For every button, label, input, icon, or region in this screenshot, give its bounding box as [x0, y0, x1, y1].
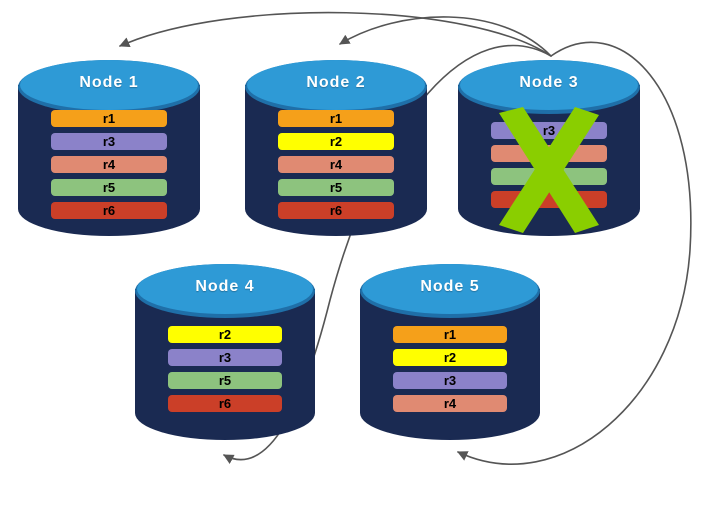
cylinder-top: [20, 60, 198, 110]
node-4-shard-r2[interactable]: r2: [168, 326, 282, 343]
node-5-shard-r1[interactable]: r1: [393, 326, 507, 343]
node-3-shard-3[interactable]: [491, 168, 607, 185]
node-5[interactable]: Node 5r1r2r3r4: [360, 262, 540, 440]
node-4-shard-r5[interactable]: r5: [168, 372, 282, 389]
node-1[interactable]: Node 1r1r3r4r5r6: [18, 58, 200, 236]
node-3[interactable]: Node 3r3: [458, 58, 640, 236]
node-1-shard-r4[interactable]: r4: [51, 156, 167, 173]
node-4-shard-r3[interactable]: r3: [168, 349, 282, 366]
node-4-shard-r6[interactable]: r6: [168, 395, 282, 412]
cylinder-top: [460, 60, 638, 110]
node-5-shard-r2[interactable]: r2: [393, 349, 507, 366]
node-5-shard-list: r1r2r3r4: [360, 326, 540, 412]
node-2-shard-list: r1r2r4r5r6: [245, 110, 427, 219]
node-4[interactable]: Node 4r2r3r5r6: [135, 262, 315, 440]
node-5-shard-r4[interactable]: r4: [393, 395, 507, 412]
diagram-canvas: Node 1r1r3r4r5r6Node 2r1r2r4r5r6Node 3r3…: [0, 0, 708, 508]
node-1-shard-r6[interactable]: r6: [51, 202, 167, 219]
node-2-shard-r2[interactable]: r2: [278, 133, 394, 150]
cylinder-top: [247, 60, 425, 110]
node-2-shard-r4[interactable]: r4: [278, 156, 394, 173]
node-3-shard-2[interactable]: [491, 145, 607, 162]
node-2[interactable]: Node 2r1r2r4r5r6: [245, 58, 427, 236]
node-4-shard-list: r2r3r5r6: [135, 326, 315, 412]
node-3-shard-r3[interactable]: r3: [491, 122, 607, 139]
node-2-shard-r6[interactable]: r6: [278, 202, 394, 219]
edge-node3-to-node1: [120, 13, 551, 56]
node-2-shard-r1[interactable]: r1: [278, 110, 394, 127]
node-1-shard-r3[interactable]: r3: [51, 133, 167, 150]
cylinder-top: [362, 264, 538, 314]
edge-node3-to-node2: [340, 17, 551, 56]
node-1-shard-r1[interactable]: r1: [51, 110, 167, 127]
node-3-shard-list: r3: [458, 122, 640, 208]
node-3-shard-4[interactable]: [491, 191, 607, 208]
node-5-shard-r3[interactable]: r3: [393, 372, 507, 389]
node-1-shard-r5[interactable]: r5: [51, 179, 167, 196]
cylinder-top: [137, 264, 313, 314]
node-1-shard-list: r1r3r4r5r6: [18, 110, 200, 219]
node-2-shard-r5[interactable]: r5: [278, 179, 394, 196]
